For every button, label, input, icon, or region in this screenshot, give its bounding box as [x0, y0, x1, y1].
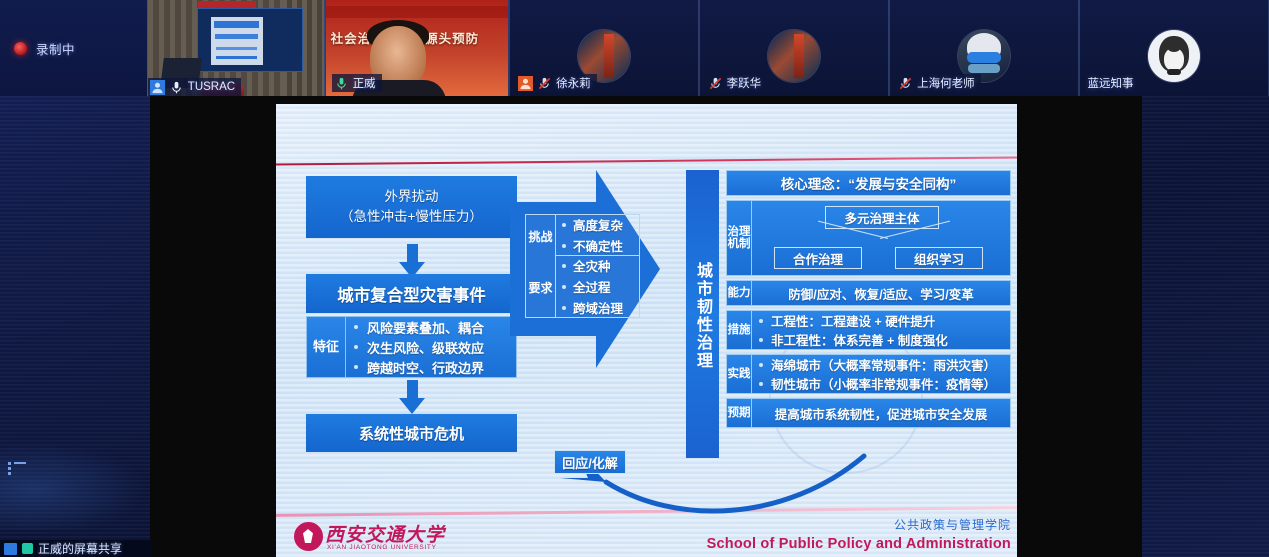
university-name-en: XI'AN JIAOTONG UNIVERSITY — [327, 544, 437, 551]
bullet-icon — [759, 382, 763, 386]
feedback-curve-arrow-icon — [456, 434, 876, 524]
avatar — [1148, 30, 1200, 82]
capability-row: 能力 防御/应对、恢复/适应、学习/变革 — [726, 280, 1011, 306]
expectation-row: 预期 提高城市系统韧性，促进城市安全发展 — [726, 398, 1011, 428]
video-tile-xuyongli[interactable]: 徐永莉 — [509, 0, 698, 96]
video-tile-lanyuan[interactable]: 蓝远知事 — [1079, 0, 1269, 96]
capability-text: 防御/应对、恢复/适应、学习/变革 — [788, 284, 973, 303]
participant-nametag: 蓝远知事 — [1086, 74, 1140, 92]
video-tile-zhengwei[interactable]: 社会治理与风险源头预防 正威 — [325, 0, 510, 96]
avatar — [768, 30, 820, 82]
university-seal-icon — [294, 522, 323, 551]
requirement-text: 全过程 — [573, 277, 611, 296]
panel-vertical-title-text: 城市韧性治理 — [692, 262, 713, 370]
requirement-item: 全过程 — [562, 277, 639, 296]
slide-top-rule — [276, 156, 1017, 165]
bullet-icon — [562, 223, 566, 227]
school-footer: 公共政策与管理学院 School of Public Policy and Ad… — [707, 516, 1011, 552]
measure-text: 工程性：工程建设 + 硬件提升 — [771, 311, 935, 330]
participant-name: 蓝远知事 — [1088, 75, 1134, 91]
requirement-text: 跨域治理 — [573, 298, 623, 317]
participant-name: 正威 — [353, 75, 376, 91]
challenge-label: 挑战 — [526, 215, 556, 259]
mechanism-right-node: 组织学习 — [895, 247, 983, 269]
participant-nametag: 徐永莉 — [516, 74, 597, 92]
practice-item: 韧性城市（小概率非常规事件：疫情等） — [752, 374, 1010, 393]
feature-table: 特征 风险要素叠加、耦合 次生风险、级联效应 跨越时空、行政边界 — [306, 316, 517, 378]
video-tile-shanghai-he[interactable]: 上海何老师 — [889, 0, 1078, 96]
recording-label: 录制中 — [36, 39, 75, 58]
challenge-item: 高度复杂 — [562, 215, 639, 234]
core-concept-row: 核心理念：“发展与安全同构” — [726, 170, 1011, 196]
capability-label: 能力 — [727, 281, 752, 305]
feature-text: 跨越时空、行政边界 — [367, 358, 484, 377]
school-name-cn: 公共政策与管理学院 — [707, 516, 1011, 533]
disturbance-line1: 外界扰动 — [385, 187, 439, 207]
mechanism-top-node: 多元治理主体 — [825, 206, 939, 229]
feature-item: 次生风险、级联效应 — [354, 338, 516, 357]
participant-nametag: 正威 — [332, 74, 382, 92]
feedback-label: 回应/化解 — [554, 450, 626, 474]
microphone-muted-icon — [898, 76, 913, 91]
participant-name: 徐永莉 — [556, 75, 591, 91]
participant-name: 李跃华 — [727, 75, 762, 91]
challenge-text: 不确定性 — [573, 236, 623, 255]
participant-nametag: 李跃华 — [706, 74, 768, 92]
microphone-icon — [334, 76, 349, 91]
bullet-icon — [354, 365, 358, 369]
challenge-requirement-table: 挑战 要求 高度复杂 不确定性 全灾种 全过程 跨域治理 — [525, 214, 640, 318]
video-tile-tusrac[interactable]: TUSRAC — [147, 0, 325, 96]
mechanism-row: 治理机制 多元治理主体 合作治理 组织学习 — [726, 200, 1011, 276]
microphone-muted-icon — [708, 76, 723, 91]
practice-row: 实践 海绵城市（大概率常规事件：雨洪灾害） 韧性城市（小概率非常规事件：疫情等） — [726, 354, 1011, 394]
screen-share-taskbar[interactable]: 正威的屏幕共享 — [0, 540, 152, 557]
expectation-text: 提高城市系统韧性，促进城市安全发展 — [775, 404, 988, 423]
bullet-icon — [759, 319, 763, 323]
bullet-icon — [354, 345, 358, 349]
feature-text: 风险要素叠加、耦合 — [367, 318, 484, 337]
feature-text: 次生风险、级联效应 — [367, 338, 484, 357]
list-menu-icon[interactable] — [8, 462, 26, 478]
panel-vertical-title: 城市韧性治理 — [686, 170, 719, 458]
requirement-label: 要求 — [526, 259, 556, 317]
mechanism-label: 治理机制 — [727, 201, 752, 275]
share-icon[interactable] — [22, 543, 33, 554]
microphone-icon — [169, 80, 184, 95]
feature-label: 特征 — [307, 317, 346, 377]
measure-item: 工程性：工程建设 + 硬件提升 — [752, 311, 1010, 330]
mechanism-subdiagram: 多元治理主体 合作治理 组织学习 — [752, 201, 1010, 275]
challenge-item: 不确定性 — [562, 236, 639, 255]
practice-label: 实践 — [727, 355, 752, 393]
presentation-slide: 外界扰动 （急性冲击+慢性压力） 城市复合型灾害事件 特征 风险要素叠加、耦合 … — [276, 104, 1017, 557]
bullet-icon — [759, 363, 763, 367]
person-icon — [150, 80, 165, 95]
resilience-governance-panel: 城市韧性治理 核心理念：“发展与安全同构” 治理机制 多元治理主体 合作治理 组… — [686, 170, 1011, 470]
practice-text: 韧性城市（小概率非常规事件：疫情等） — [771, 374, 996, 393]
participant-nametag: 上海何老师 — [896, 74, 981, 92]
feature-item: 风险要素叠加、耦合 — [354, 318, 516, 337]
participant-nametag: TUSRAC — [148, 78, 241, 96]
bullet-icon — [562, 264, 566, 268]
requirement-item: 全灾种 — [562, 256, 639, 275]
requirement-text: 全灾种 — [573, 256, 611, 275]
university-logo: 西安交通大学 XI'AN JIAOTONG UNIVERSITY — [294, 520, 444, 554]
measures-label: 措施 — [727, 311, 752, 349]
practice-item: 海绵城市（大概率常规事件：雨洪灾害） — [752, 355, 1010, 374]
disturbance-line2: （急性冲击+慢性压力） — [340, 207, 483, 227]
measures-row: 措施 工程性：工程建设 + 硬件提升 非工程性：体系完善 + 制度强化 — [726, 310, 1011, 350]
record-dot-icon — [14, 42, 27, 55]
person-icon — [518, 76, 533, 91]
bullet-icon — [562, 244, 566, 248]
school-name-en: School of Public Policy and Administrati… — [707, 536, 1011, 552]
university-name-cn: 西安交通大学 — [325, 520, 445, 547]
bullet-icon — [562, 306, 566, 310]
recording-indicator: 录制中 — [0, 0, 147, 96]
bullet-icon — [562, 285, 566, 289]
participant-name: TUSRAC — [188, 81, 235, 93]
down-arrow-icon — [399, 380, 425, 414]
screen-glow — [0, 440, 150, 530]
mechanism-left-node: 合作治理 — [774, 247, 862, 269]
screen-share-label: 正威的屏幕共享 — [38, 540, 122, 557]
bullet-icon — [759, 338, 763, 342]
requirement-item: 跨域治理 — [562, 298, 639, 317]
feature-item: 跨越时空、行政边界 — [354, 358, 516, 377]
video-tile-liyuehua[interactable]: 李跃华 — [699, 0, 889, 96]
expectation-label: 预期 — [727, 399, 752, 427]
measure-item: 非工程性：体系完善 + 制度强化 — [752, 330, 1010, 349]
box-compound-disaster-event: 城市复合型灾害事件 — [306, 274, 517, 313]
measure-text: 非工程性：体系完善 + 制度强化 — [771, 330, 948, 349]
participant-name: 上海何老师 — [917, 75, 975, 91]
challenge-text: 高度复杂 — [573, 215, 623, 234]
box-external-disturbance: 外界扰动 （急性冲击+慢性压力） — [306, 176, 517, 238]
microphone-muted-icon — [537, 76, 552, 91]
practice-text: 海绵城市（大概率常规事件：雨洪灾害） — [771, 355, 996, 374]
conference-filmstrip: 录制中 TUSRAC 社会治理与风险源头预防 — [0, 0, 1269, 96]
bullet-icon — [354, 325, 358, 329]
app-icon[interactable] — [4, 543, 17, 555]
down-arrow-icon — [399, 244, 425, 278]
